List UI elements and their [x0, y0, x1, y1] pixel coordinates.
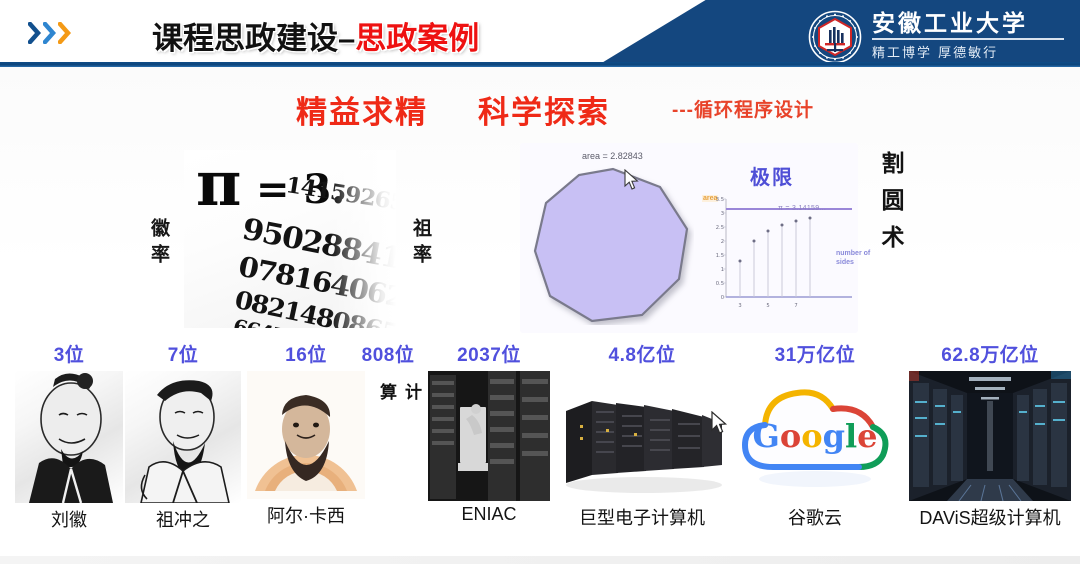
- timeline-count: 7位: [124, 345, 242, 367]
- timeline-count: 62.8万亿位: [906, 345, 1074, 367]
- page-title-accent: 思政案例: [355, 21, 479, 56]
- timeline-label: 阿尔·卡西: [244, 502, 368, 528]
- pi-label-hui: 徽率: [146, 218, 173, 270]
- chevron-2-icon: [43, 22, 57, 44]
- limit-title: 极限: [750, 161, 794, 190]
- headline-left: 精益求精: [296, 87, 428, 132]
- timeline-count: 31万亿位: [730, 345, 900, 367]
- page-title: 课程思政建设–思政案例: [152, 13, 479, 58]
- cloud-logo-icon: Google: [731, 371, 899, 501]
- svg-text:1: 1: [721, 267, 724, 273]
- polygon-area-label: area = 2.82843: [582, 151, 643, 161]
- chevron-3-icon: [58, 22, 72, 44]
- pi-history-timeline: 3位 刘徽: [0, 345, 1080, 564]
- chart-x-axis-label: number of sides: [836, 249, 876, 267]
- datacenter-corridor-image: [909, 371, 1071, 501]
- page-title-main: 课程思政建设–: [152, 21, 355, 56]
- branding-divider: [872, 38, 1064, 40]
- timeline-count: 2037位: [424, 345, 554, 367]
- mouse-pointer-icon: [624, 169, 641, 191]
- polygon-limit-panel: area = 2.82843 极限 area 00.51 1.522.5 33.…: [520, 143, 858, 333]
- headline-mid: 科学探索: [478, 87, 610, 132]
- svg-text:3: 3: [721, 211, 724, 217]
- timeline-label: ENIAC: [424, 504, 554, 525]
- timeline-item-davis: 62.8万亿位: [906, 345, 1074, 530]
- timeline-label: DAViS超级计算机: [906, 504, 1074, 530]
- slide-headline: 精益求精 科学探索 ---循环程序设计: [0, 87, 1080, 129]
- timeline-label: 巨型电子计算机: [556, 504, 728, 530]
- headline-note: ---循环程序设计: [672, 95, 814, 122]
- timeline-item-zuchongzhi: 7位 祖冲之: [124, 345, 242, 532]
- limit-convergence-chart: 00.51 1.522.5 33.5: [696, 193, 854, 321]
- svg-text:2: 2: [721, 239, 724, 245]
- slide-page: 课程思政建设–思政案例: [0, 0, 1080, 564]
- svg-text:3: 3: [738, 303, 741, 309]
- timeline-label: 谷歌云: [730, 504, 900, 530]
- pi-symbol: π: [196, 154, 241, 214]
- timeline-label: 祖冲之: [124, 506, 242, 532]
- portrait-ink-drawing: [15, 371, 123, 503]
- pi-label-zu: 祖率: [408, 218, 435, 270]
- svg-text:5: 5: [766, 303, 769, 309]
- supercomputer-rack-image: [558, 371, 726, 501]
- timeline-item-manual-calc: 808位 手工计算: [352, 345, 424, 367]
- mouse-pointer-icon: [711, 411, 729, 435]
- inscribed-polygon-shape: [532, 165, 694, 325]
- eniac-machine-image: [428, 371, 550, 501]
- svg-text:0: 0: [721, 295, 724, 301]
- portrait-painting: [247, 371, 365, 499]
- eniac-photo: [428, 371, 550, 501]
- liu-hui-portrait: [15, 371, 123, 503]
- portrait-ink-drawing: [125, 371, 241, 503]
- svg-text:3.5: 3.5: [716, 197, 724, 203]
- slide-body: 精益求精 科学探索 ---循环程序设计 徽率 π = 3. 1415926535…: [0, 67, 1080, 564]
- slide-bottom-bar: [0, 556, 1080, 564]
- svg-text:2.5: 2.5: [716, 225, 724, 231]
- slide-header: 课程思政建设–思政案例: [0, 0, 1080, 67]
- university-seal-icon: [808, 10, 862, 64]
- university-name: 安徽工业大学: [872, 11, 1072, 37]
- university-branding: 安徽工业大学 精工博学 厚德敏行: [872, 11, 1072, 61]
- university-motto: 精工博学 厚德敏行: [872, 42, 1072, 61]
- svg-text:0.5: 0.5: [716, 281, 724, 287]
- timeline-item-mainframe: 4.8亿位: [556, 345, 728, 530]
- svg-text:1.5: 1.5: [716, 253, 724, 259]
- timeline-item-alkashi: 16位 阿尔·卡西: [244, 345, 368, 528]
- timeline-count: 808位: [352, 345, 424, 367]
- timeline-item-google-cloud: 31万亿位 Google 谷歌云: [730, 345, 900, 530]
- chevron-1-icon: [28, 22, 42, 44]
- pi-illustration: 徽率 π = 3. 14159265358979 950288419716939…: [140, 150, 440, 330]
- svg-text:7: 7: [794, 303, 797, 309]
- datacenter-photo: [909, 371, 1071, 501]
- timeline-label: 刘徽: [14, 506, 124, 532]
- chart-pi-annotation: π = 3.14159...: [778, 205, 826, 212]
- timeline-count: 4.8亿位: [556, 345, 728, 367]
- triple-chevron-icon: [28, 22, 72, 44]
- timeline-item-eniac: 2037位: [424, 345, 554, 525]
- mainframe-photo: [558, 371, 726, 501]
- pi-digits-image: π = 3. 14159265358979 950288419716939 07…: [184, 150, 396, 328]
- timeline-item-liuhui: 3位 刘徽: [14, 345, 124, 532]
- google-cloud-logo: Google: [731, 371, 899, 501]
- cut-circle-method-label: 割圆术: [876, 151, 904, 262]
- timeline-count: 3位: [14, 345, 124, 367]
- zu-chongzhi-portrait: [125, 371, 241, 503]
- svg-text:Google: Google: [753, 417, 878, 455]
- timeline-count: 16位: [244, 345, 368, 367]
- al-kashi-portrait: [247, 371, 365, 499]
- pi-image-fade: [330, 150, 396, 328]
